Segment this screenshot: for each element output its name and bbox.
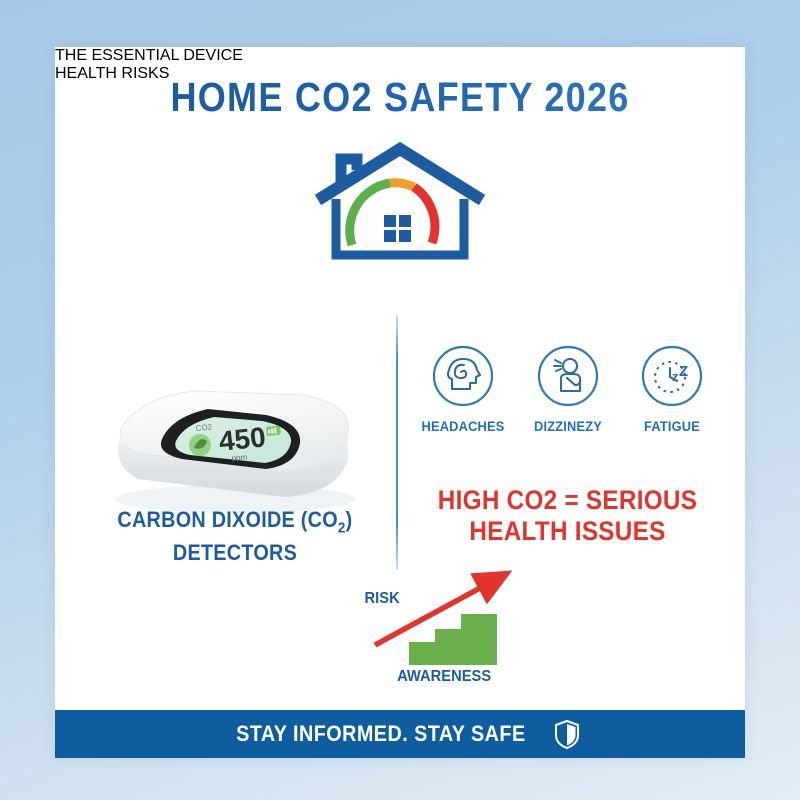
chart-ylabel: RISK [365, 590, 400, 608]
device-caption-subscript: 2 [338, 519, 346, 536]
page-title: HOME CO2 SAFETY 2026 [96, 74, 703, 121]
column-divider [396, 315, 398, 570]
shield-icon [554, 719, 580, 749]
section-heading-device: THE ESSENTIAL DEVICE [55, 47, 355, 65]
co2-detector-icon: CO2 450 ppm [90, 347, 380, 527]
risk-label: FATIGUE [629, 419, 715, 434]
risk-item-dizziness: DIZZINEZY [523, 345, 613, 434]
risk-item-headaches: HEADACHES [418, 345, 508, 434]
footer-bar: STAY INFORMED. STAY SAFE [55, 710, 745, 758]
dizzy-person-icon [537, 345, 599, 407]
chart-bar-2 [435, 629, 461, 665]
section-heading-device-label: THE ESSENTIAL DEVICE [55, 47, 243, 64]
hero-illustration [55, 137, 745, 267]
risk-label: DIZZINEZY [525, 419, 611, 434]
footer-text: STAY INFORMED. STAY SAFE [236, 721, 526, 747]
head-spiral-icon [432, 345, 494, 407]
clock-zz-icon: z Z [641, 345, 703, 407]
risk-item-fatigue: z Z FATIGUE [627, 345, 717, 434]
risk-awareness-chart: RISK AWARENESS [345, 557, 545, 697]
warning-line-1: HIGH CO2 = SERIOUS [438, 485, 697, 515]
warning-line-2: HEALTH ISSUES [469, 516, 665, 546]
device-illustration: CO2 450 ppm [90, 347, 380, 527]
svg-text:ppm: ppm [231, 452, 248, 463]
chart-xlabel: AWARENESS [397, 668, 491, 686]
svg-text:CO2: CO2 [195, 422, 213, 433]
device-caption-line1: CARBON DIXOIDE (CO [117, 507, 337, 532]
chart-bar-1 [409, 642, 435, 665]
chart-bar-3 [461, 614, 497, 665]
device-caption: CARBON DIXOIDE (CO2) DETECTORS [91, 507, 379, 565]
device-caption-line2: DETECTORS [173, 540, 297, 565]
infographic-card: HOME CO2 SAFETY 2026 THE ESSENTIAL DEVIC… [55, 47, 745, 758]
risk-label: HEADACHES [420, 419, 506, 434]
device-caption-paren: ) [346, 507, 353, 532]
svg-text:450: 450 [217, 421, 267, 457]
health-risk-list: HEADACHES DIZZINEZY z Z FATIGUE [410, 345, 725, 434]
svg-text:z: z [672, 369, 679, 384]
svg-text:Z: Z [679, 363, 688, 380]
warning-text: HIGH CO2 = SERIOUS HEALTH ISSUES [421, 485, 714, 547]
house-gauge-icon [310, 137, 490, 267]
